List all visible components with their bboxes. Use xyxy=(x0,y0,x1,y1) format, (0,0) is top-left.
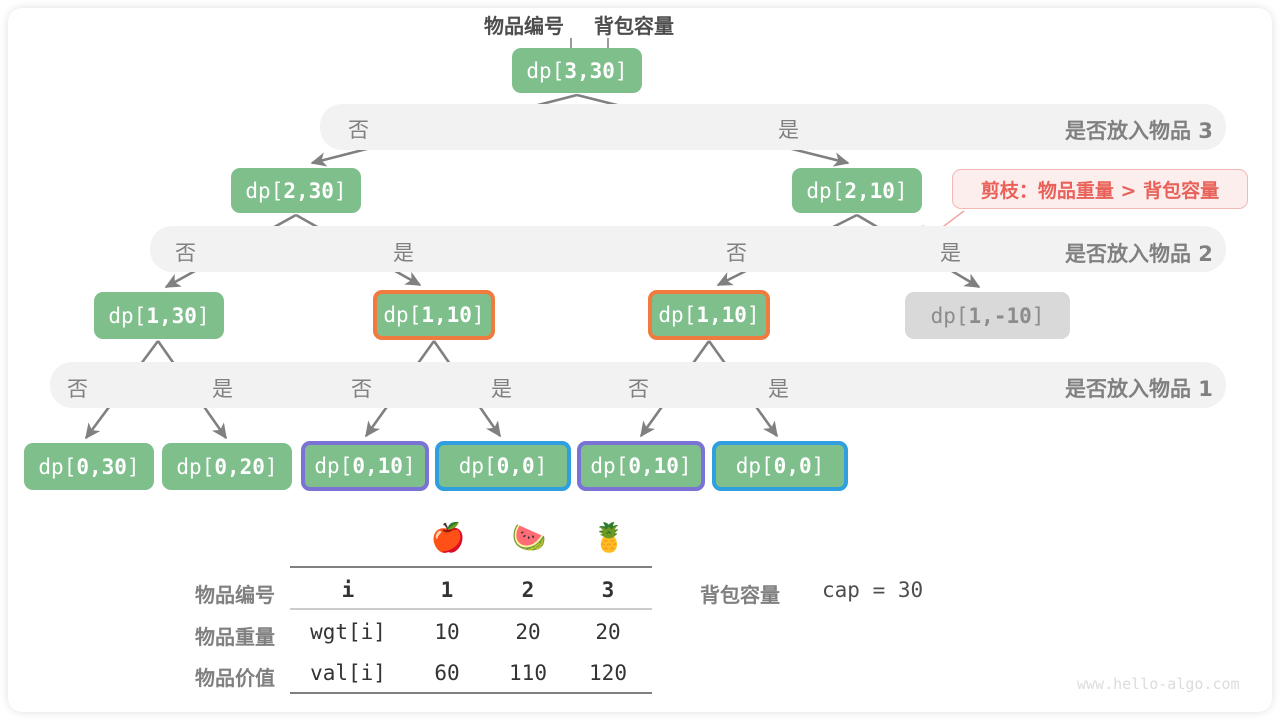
table-row-label-item-index: 物品编号 xyxy=(145,579,275,608)
top-label-bag-capacity: 背包容量 xyxy=(594,10,674,39)
branch-label-yes: 是 xyxy=(768,373,789,403)
tree-node-dp-1-10-left[interactable]: dp[1,10] xyxy=(373,290,495,340)
band-title-item-1: 是否放入物品 1 xyxy=(1065,373,1213,403)
table-row-label-item-value: 物品价值 xyxy=(145,662,275,691)
branch-label-no: 否 xyxy=(348,114,369,144)
branch-label-no: 否 xyxy=(351,373,372,403)
fruit-icon-watermelon: 🍉 xyxy=(509,524,549,552)
tree-node-dp-2-10[interactable]: dp[2,10] xyxy=(792,168,922,213)
table-cell-index-1: 1 xyxy=(407,578,487,602)
table-key-i: i xyxy=(296,578,400,602)
tree-leaf-dp-0-30[interactable]: dp[0,30] xyxy=(24,443,154,490)
fruit-icon-apple: 🍎 xyxy=(428,524,468,552)
tree-leaf-dp-0-20[interactable]: dp[0,20] xyxy=(162,443,292,490)
branch-label-no: 否 xyxy=(628,373,649,403)
table-cell-value-3: 120 xyxy=(568,661,648,685)
node-text: dp[1,10] xyxy=(658,303,759,327)
band-title-item-3: 是否放入物品 3 xyxy=(1065,115,1213,145)
table-cell-value-2: 110 xyxy=(488,661,568,685)
node-text: dp[0,10] xyxy=(590,454,691,478)
node-text: dp[1,-10] xyxy=(931,304,1045,328)
diagram-canvas: 物品编号 背包容量 是否放入物品 3 否 是 是否放入物品 2 否 是 否 是 … xyxy=(0,0,1280,720)
branch-label-yes: 是 xyxy=(212,373,233,403)
node-text: dp[0,10] xyxy=(314,454,415,478)
node-text: dp[0,30] xyxy=(38,455,139,479)
node-text: dp[2,30] xyxy=(245,179,346,203)
node-text: dp[0,20] xyxy=(176,455,277,479)
branch-label-no: 否 xyxy=(67,373,88,403)
node-text: dp[1,10] xyxy=(383,303,484,327)
top-label-item-index: 物品编号 xyxy=(484,10,564,39)
tree-leaf-dp-0-0-right[interactable]: dp[0,0] xyxy=(712,441,848,491)
capacity-label: 背包容量 xyxy=(700,579,780,608)
table-cell-weight-3: 20 xyxy=(568,620,648,644)
capacity-value: cap = 30 xyxy=(822,578,923,602)
table-key-wgt: wgt[i] xyxy=(296,620,400,644)
branch-label-yes: 是 xyxy=(491,373,512,403)
band-title-item-2: 是否放入物品 2 xyxy=(1065,238,1213,268)
table-cell-weight-1: 10 xyxy=(407,620,487,644)
node-text: dp[1,30] xyxy=(108,304,209,328)
tree-leaf-dp-0-10-right[interactable]: dp[0,10] xyxy=(577,441,705,491)
node-text: dp[3,30] xyxy=(526,59,627,83)
tree-node-dp-1-minus10-pruned[interactable]: dp[1,-10] xyxy=(905,292,1070,339)
tree-leaf-dp-0-0-left[interactable]: dp[0,0] xyxy=(435,441,571,491)
table-rule-bottom xyxy=(290,692,652,694)
table-cell-value-1: 60 xyxy=(407,661,487,685)
fruit-icon-pineapple: 🍍 xyxy=(589,524,629,552)
branch-label-yes: 是 xyxy=(940,237,961,267)
watermark: www.hello-algo.com xyxy=(1077,675,1240,693)
tree-leaf-dp-0-10-left[interactable]: dp[0,10] xyxy=(301,441,429,491)
table-cell-weight-2: 20 xyxy=(488,620,568,644)
node-text: dp[2,10] xyxy=(806,179,907,203)
table-cell-index-3: 3 xyxy=(568,578,648,602)
tree-node-dp-1-10-right[interactable]: dp[1,10] xyxy=(648,290,770,340)
node-text: dp[0,0] xyxy=(459,454,548,478)
table-key-val: val[i] xyxy=(296,661,400,685)
branch-label-yes: 是 xyxy=(778,114,799,144)
node-text: dp[0,0] xyxy=(736,454,825,478)
branch-label-no: 否 xyxy=(726,237,747,267)
tree-node-dp-3-30[interactable]: dp[3,30] xyxy=(512,48,642,93)
table-rule-top xyxy=(290,566,652,568)
table-cell-index-2: 2 xyxy=(488,578,568,602)
table-row-label-item-weight: 物品重量 xyxy=(145,621,275,650)
tree-node-dp-2-30[interactable]: dp[2,30] xyxy=(231,168,361,213)
branch-label-no: 否 xyxy=(175,237,196,267)
tree-node-dp-1-30[interactable]: dp[1,30] xyxy=(94,292,224,339)
table-rule-mid xyxy=(290,608,652,610)
branch-label-yes: 是 xyxy=(393,237,414,267)
prune-callout: 剪枝：物品重量 > 背包容量 xyxy=(952,169,1248,209)
